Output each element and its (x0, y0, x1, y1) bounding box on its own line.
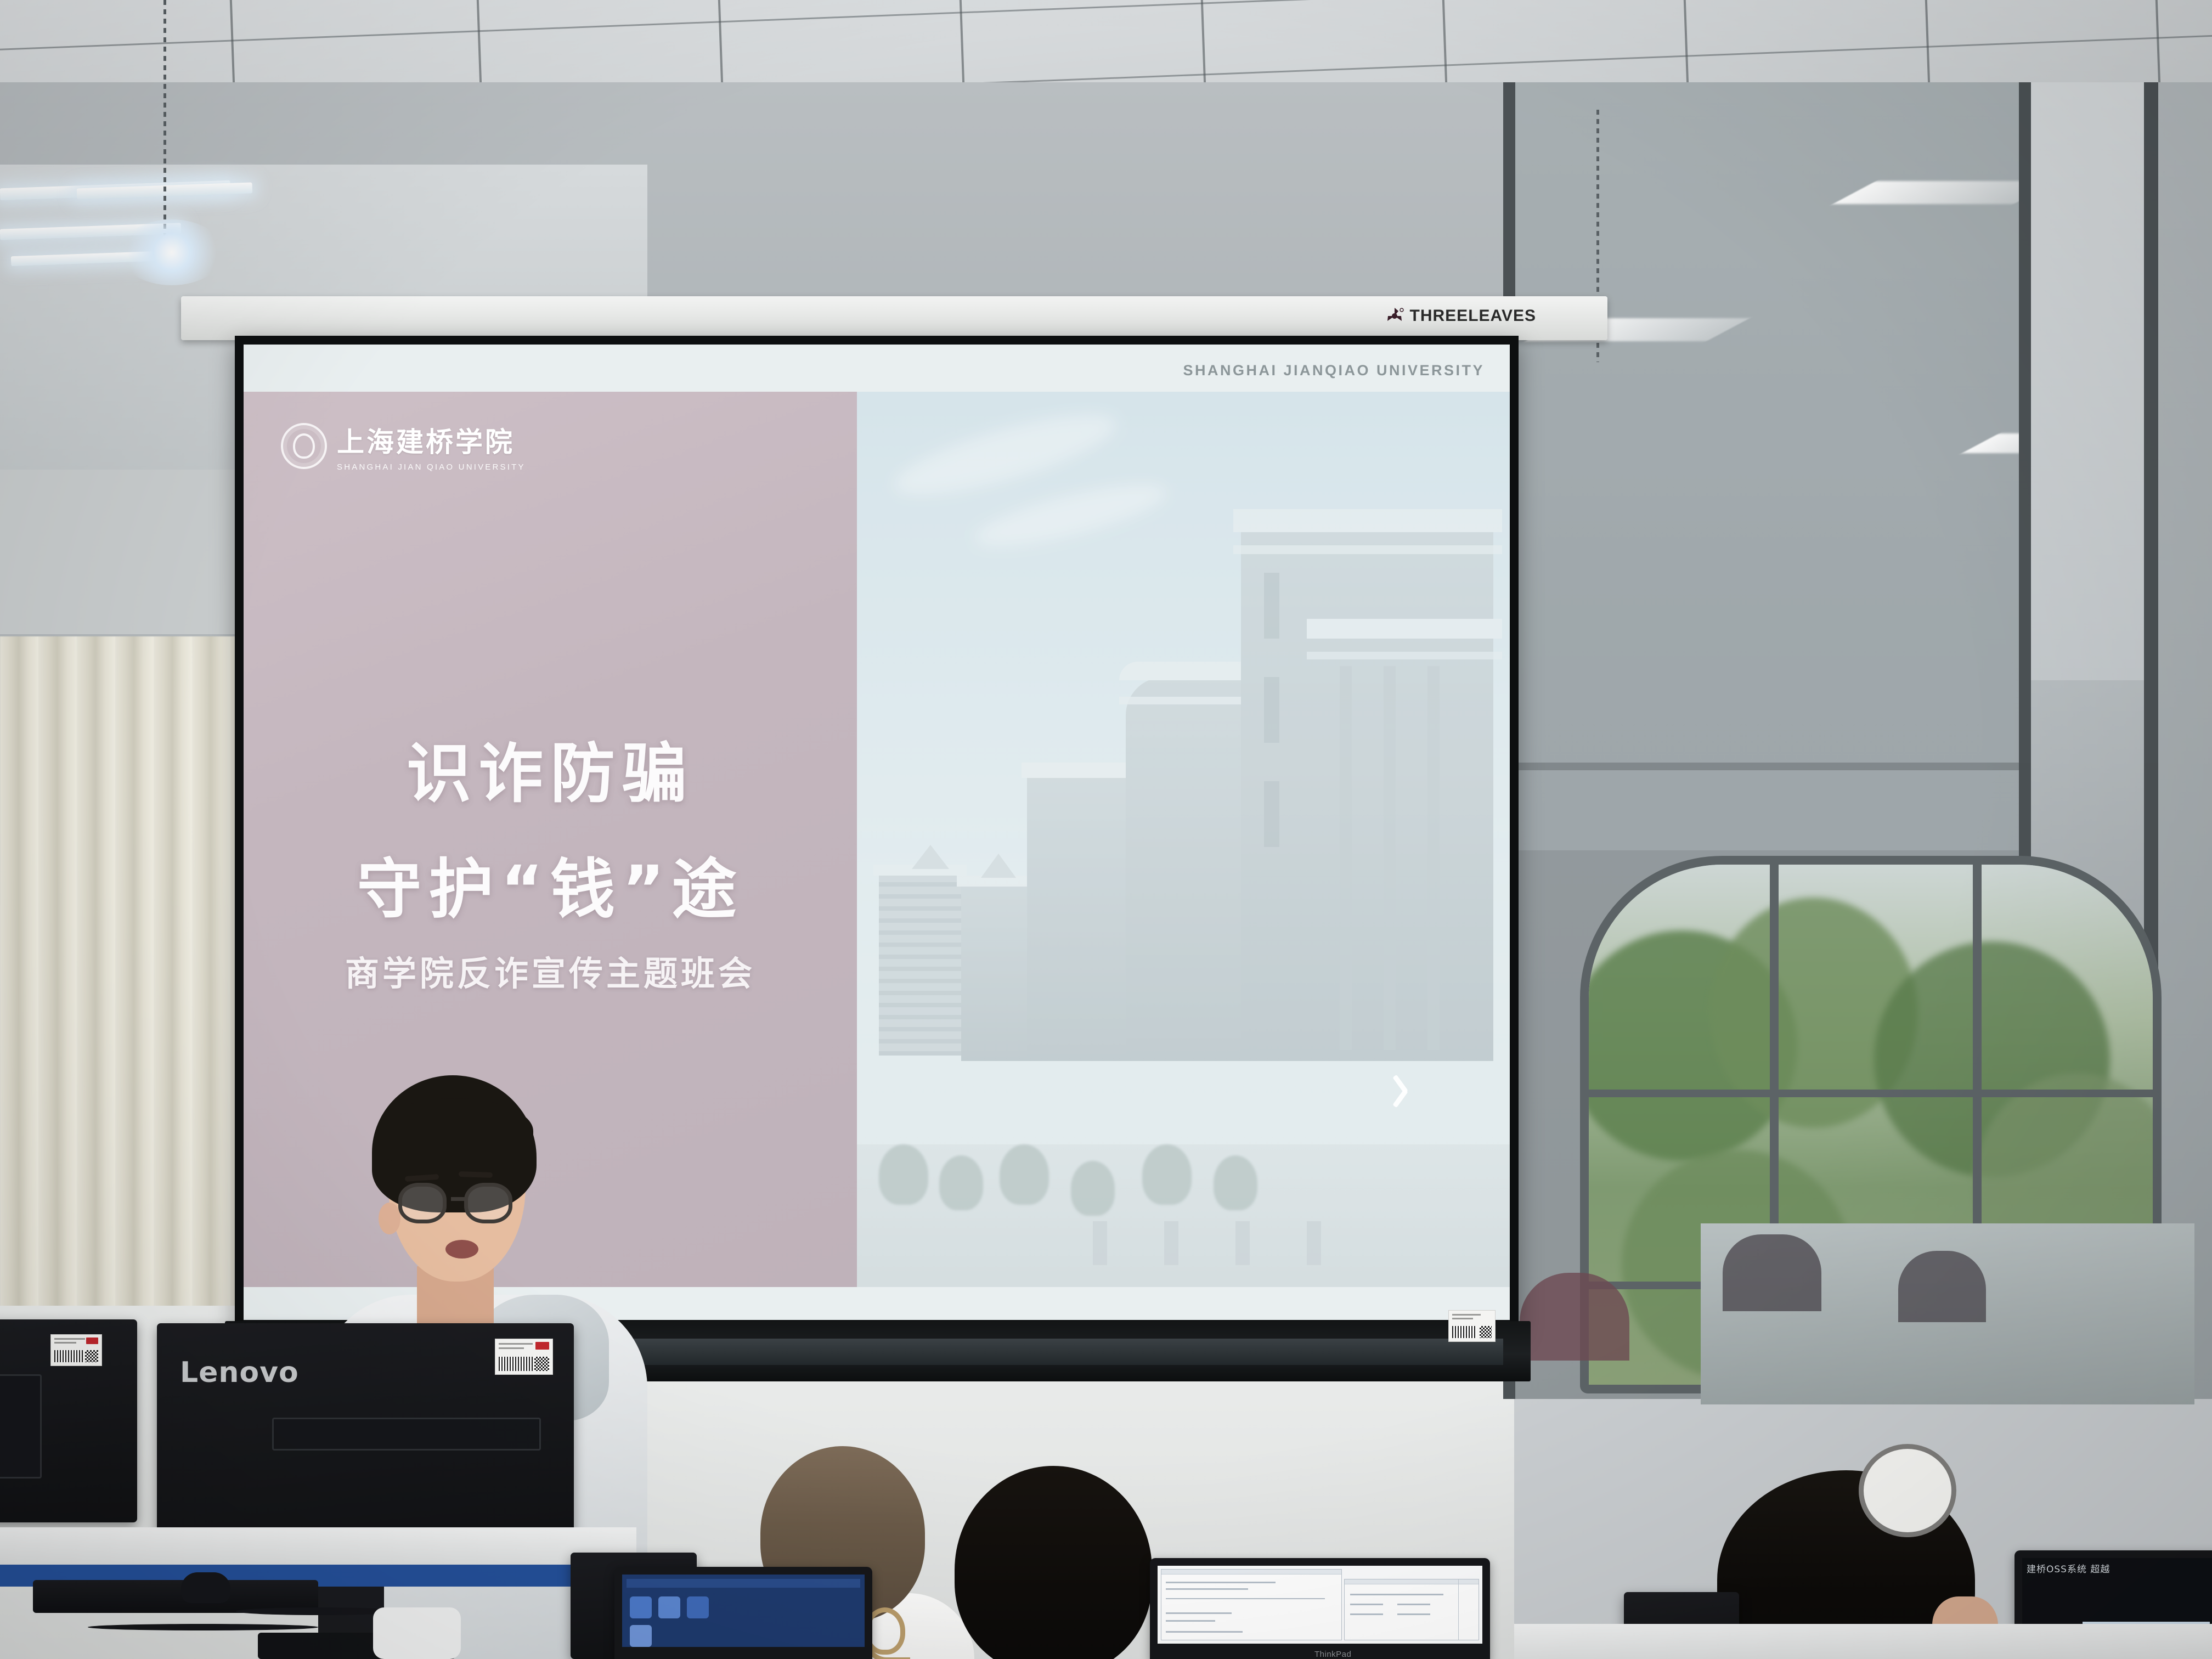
campus-photo (857, 392, 1510, 1287)
desk-cable-2 (88, 1624, 318, 1630)
slide-title: 识诈防骗 守护“钱”途 (244, 721, 857, 930)
projector-brand-label: THREELEAVES (1410, 307, 1536, 325)
logo-english-name: SHANGHAI JIAN QIAO UNIVERSITY (337, 462, 526, 472)
silhouette-person-3 (1520, 1273, 1629, 1361)
silhouette-person-1 (1723, 1234, 1821, 1311)
logo-chinese-name: 上海建桥学院 (337, 420, 526, 460)
hair-scrunchie (1859, 1444, 1956, 1537)
slide-right-photo-panel (857, 392, 1510, 1287)
audience-student-2 (955, 1466, 1152, 1659)
window-curtain (0, 636, 258, 1361)
chevron-right-icon[interactable] (1393, 1074, 1412, 1106)
glasses-lens-left (398, 1183, 447, 1223)
desk-right (1514, 1624, 2212, 1659)
computer-mouse (181, 1572, 230, 1603)
presenter-mouth (445, 1240, 478, 1259)
student-2-hair (955, 1466, 1152, 1659)
glasses-lens-right (464, 1183, 512, 1223)
slide-header-university: SHANGHAI JIANQIAO UNIVERSITY (1183, 362, 1485, 379)
tissue-paper (373, 1607, 461, 1659)
university-logo: 上海建桥学院 SHANGHAI JIAN QIAO UNIVERSITY (281, 420, 526, 472)
presenter-fringe (376, 1098, 533, 1164)
desk-left (0, 1527, 636, 1566)
university-seal-icon (281, 423, 327, 469)
slide-title-line2: 守护“钱”途 (244, 837, 857, 930)
lamp-chain-left (163, 0, 166, 236)
barcode-sticker-icon (495, 1339, 553, 1375)
presenter-brow-right (459, 1171, 493, 1178)
laptop-screen-text: 建桥OSS系统 超越 (2027, 1561, 2110, 1575)
laptop-center-thinkpad: ThinkPad (1150, 1558, 1490, 1659)
hanging-lamp-light (120, 219, 224, 285)
glasses-bridge (451, 1197, 467, 1201)
laptop-screen-left[interactable] (622, 1575, 865, 1647)
laptop-lid (614, 1567, 872, 1659)
barcode-sticker-icon (50, 1334, 102, 1366)
silhouette-person-2 (1898, 1251, 1986, 1322)
projector-screen-case: THREELEAVES (181, 296, 1607, 340)
monitor-brand-label: Lenovo (180, 1356, 299, 1389)
slide-subtitle: 商学院反诈宣传主题班会 (244, 946, 857, 995)
three-blade-propeller-icon (1385, 306, 1404, 326)
laptop-screen-center[interactable] (1158, 1566, 1482, 1644)
projector-brand: THREELEAVES (1385, 306, 1536, 326)
slide-title-line1: 识诈防骗 (244, 721, 857, 815)
laptop-left (614, 1567, 872, 1659)
barcode-sticker-icon (1448, 1310, 1496, 1342)
presenter-ear (379, 1203, 400, 1234)
laptop-brand-label: ThinkPad (1314, 1650, 1351, 1659)
laptop-lid: ThinkPad (1150, 1558, 1490, 1659)
classroom-photo: THREELEAVES SHANGHAI JIANQIAO UNIVERSITY… (0, 0, 2212, 1659)
